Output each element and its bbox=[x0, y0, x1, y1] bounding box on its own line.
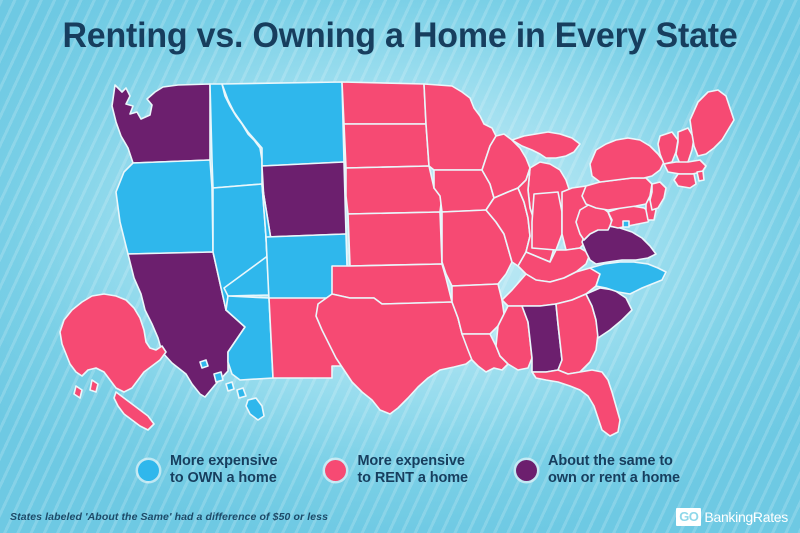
legend-item-same[interactable]: About the same to own or rent a home bbox=[516, 453, 680, 487]
state-NY[interactable] bbox=[590, 138, 664, 182]
legend-item-rent[interactable]: More expensive to RENT a home bbox=[325, 453, 468, 487]
state-ND[interactable] bbox=[342, 82, 426, 124]
state-SD[interactable] bbox=[344, 124, 429, 168]
title-bar: Renting vs. Owning a Home in Every State bbox=[0, 8, 800, 64]
state-IN-body[interactable] bbox=[532, 192, 562, 250]
state-NE[interactable] bbox=[346, 166, 442, 214]
legend-dot-purple-icon bbox=[516, 460, 537, 481]
state-KS[interactable] bbox=[348, 212, 442, 266]
us-choropleth-map bbox=[0, 62, 800, 440]
gobankingrates-logo[interactable]: GO BankingRates bbox=[676, 508, 788, 526]
state-NJ[interactable] bbox=[650, 182, 666, 210]
state-ME[interactable] bbox=[690, 90, 734, 156]
infographic-poster: Renting vs. Owning a Home in Every State bbox=[0, 0, 800, 533]
us-map-svg bbox=[0, 62, 800, 440]
legend-label-rent: More expensive to RENT a home bbox=[357, 453, 468, 487]
logo-name-text: BankingRates bbox=[704, 509, 788, 525]
state-RI[interactable] bbox=[697, 171, 704, 181]
legend-item-own[interactable]: More expensive to OWN a home bbox=[138, 453, 277, 487]
state-FL[interactable] bbox=[532, 370, 620, 436]
footnote: States labeled 'About the Same' had a di… bbox=[10, 511, 328, 523]
legend-dot-blue-icon bbox=[138, 460, 159, 481]
state-MN[interactable] bbox=[424, 84, 496, 170]
legend-label-own: More expensive to OWN a home bbox=[170, 453, 277, 487]
legend-dot-pink-icon bbox=[325, 460, 346, 481]
logo-go-badge: GO bbox=[676, 508, 701, 526]
state-PA[interactable] bbox=[582, 178, 652, 210]
state-TX[interactable] bbox=[316, 294, 476, 414]
legend: More expensive to OWN a home More expens… bbox=[0, 444, 800, 496]
state-CT[interactable] bbox=[674, 174, 696, 188]
state-AR[interactable] bbox=[452, 284, 504, 334]
page-title: Renting vs. Owning a Home in Every State bbox=[62, 16, 737, 56]
state-WY[interactable] bbox=[262, 162, 346, 237]
legend-label-same: About the same to own or rent a home bbox=[548, 453, 680, 487]
state-DC[interactable] bbox=[623, 221, 629, 227]
state-OR[interactable] bbox=[116, 160, 213, 254]
state-WA[interactable] bbox=[112, 84, 210, 163]
